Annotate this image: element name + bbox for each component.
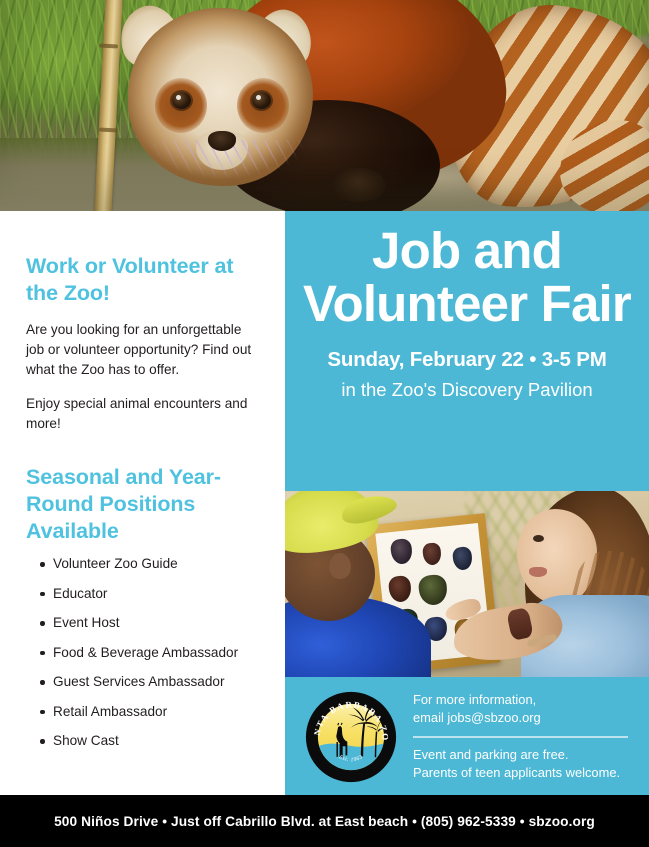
child-ear <box>329 553 351 579</box>
list-item: Show Cast <box>26 733 259 750</box>
contact-text-block: For more information, email jobs@sbzoo.o… <box>413 691 631 782</box>
positions-list: Volunteer Zoo Guide Educator Event Host … <box>26 556 259 750</box>
footer-address-bar: 500 Niños Drive • Just off Cabrillo Blvd… <box>0 795 649 847</box>
event-date-time: Sunday, February 22 • 3-5 PM <box>303 348 631 373</box>
event-location: in the Zoo's Discovery Pavilion <box>303 379 631 401</box>
photo-vignette <box>0 0 649 211</box>
educator-and-child-photo <box>285 491 649 677</box>
zoo-logo-icon: SANTA BARBARA ZOO Est. 1963 <box>305 691 397 783</box>
contact-email-line: email jobs@sbzoo.org <box>413 709 631 727</box>
educator-eye <box>533 535 544 542</box>
page-title: Job and Volunteer Fair <box>303 225 631 330</box>
footer-address-text: 500 Niños Drive • Just off Cabrillo Blvd… <box>54 814 595 829</box>
list-item: Guest Services Ambassador <box>26 674 259 691</box>
list-item: Volunteer Zoo Guide <box>26 556 259 573</box>
flyer-page: Work or Volunteer at the Zoo! Are you lo… <box>0 0 649 847</box>
list-item: Event Host <box>26 615 259 632</box>
intro-paragraph: Are you looking for an unforgettable job… <box>26 320 259 380</box>
positions-available-heading: Seasonal and Year-Round Positions Availa… <box>26 464 259 545</box>
contact-info-panel: SANTA BARBARA ZOO Est. 1963 For more inf… <box>285 677 649 795</box>
note-line-1: Event and parking are free. <box>413 746 631 764</box>
work-or-volunteer-heading: Work or Volunteer at the Zoo! <box>26 253 259 307</box>
info-divider <box>413 736 628 738</box>
note-line-2: Parents of teen applicants welcome. <box>413 764 631 782</box>
list-item: Food & Beverage Ambassador <box>26 645 259 662</box>
list-item: Educator <box>26 586 259 603</box>
left-content-column: Work or Volunteer at the Zoo! Are you lo… <box>0 211 285 795</box>
contact-line-1: For more information, <box>413 691 631 709</box>
santa-barbara-zoo-logo: SANTA BARBARA ZOO Est. 1963 <box>305 691 397 783</box>
educator-mouth <box>529 567 547 577</box>
list-item: Retail Ambassador <box>26 704 259 721</box>
event-title-panel: Job and Volunteer Fair Sunday, February … <box>285 211 649 491</box>
animal-encounters-paragraph: Enjoy special animal encounters and more… <box>26 394 259 434</box>
hero-red-panda-photo <box>0 0 649 211</box>
